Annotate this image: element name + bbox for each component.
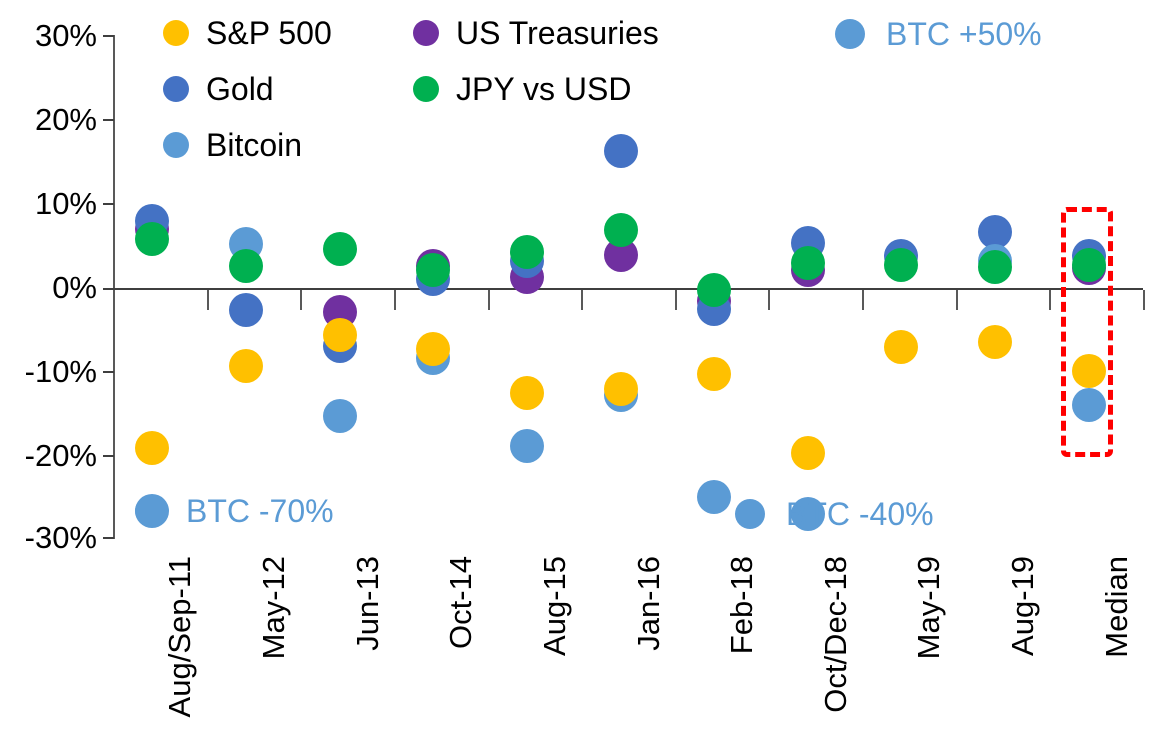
annotation-dot-icon — [135, 496, 165, 526]
data-point — [978, 325, 1012, 359]
x-axis-tick-label: Aug-19 — [1007, 556, 1038, 656]
x-axis-tick-label: Oct-14 — [445, 556, 476, 649]
data-point — [697, 480, 731, 514]
plot-area — [113, 36, 1143, 538]
data-point — [697, 357, 731, 391]
median-highlight-box — [1061, 207, 1113, 457]
annotation-btc-minus-40: BTC -40% — [735, 498, 934, 530]
annotation-btc-minus-70: BTC -70% — [135, 495, 334, 527]
x-axis-tick-label: Aug-15 — [539, 556, 570, 656]
y-axis-tick-label: -10% — [25, 356, 97, 387]
y-axis-tick-label: 10% — [35, 188, 97, 219]
data-point — [604, 134, 638, 168]
annotation-dot-icon — [735, 499, 765, 529]
data-point — [604, 372, 638, 406]
data-point — [135, 222, 169, 256]
data-point — [791, 246, 825, 280]
data-point — [323, 318, 357, 352]
x-axis-tick-label: Jun-13 — [352, 556, 383, 651]
x-axis-tick — [1143, 290, 1145, 310]
annotation-label: BTC -70% — [186, 495, 334, 527]
data-point — [791, 436, 825, 470]
x-axis-tick-label: Median — [1101, 556, 1132, 658]
data-point — [697, 273, 731, 307]
x-axis-tick-label: Oct/Dec-18 — [820, 556, 851, 713]
data-point — [229, 293, 263, 327]
y-axis-tick-label: -30% — [25, 522, 97, 553]
y-axis-tick-label: 30% — [35, 20, 97, 51]
x-axis-tick-label: Feb-18 — [726, 556, 757, 654]
data-point — [229, 349, 263, 383]
data-point — [510, 235, 544, 269]
data-point — [510, 429, 544, 463]
data-point — [323, 399, 357, 433]
x-axis-tick-label: Jan-16 — [633, 556, 664, 651]
annotation-label: BTC +50% — [886, 18, 1042, 50]
x-axis-tick-label: May-19 — [913, 556, 944, 659]
y-axis-tick-label: 0% — [52, 272, 97, 303]
y-axis-tick-label: -20% — [25, 440, 97, 471]
data-point — [884, 248, 918, 282]
data-point — [323, 232, 357, 266]
data-point — [229, 249, 263, 283]
data-point — [884, 330, 918, 364]
scatter-chart: 30% 20% 10% 0% -10% -20% -30% Aug/Sep-11… — [0, 0, 1151, 739]
data-point — [510, 376, 544, 410]
y-axis-labels: 30% 20% 10% 0% -10% -20% -30% — [0, 0, 97, 739]
y-axis-tick-label: 20% — [35, 104, 97, 135]
annotation-btc-plus-50: BTC +50% — [835, 18, 1042, 50]
data-point — [604, 213, 638, 247]
data-point — [416, 253, 450, 287]
x-axis-tick-label: Aug/Sep-11 — [164, 556, 195, 717]
data-point — [978, 250, 1012, 284]
x-axis-tick-label: May-12 — [258, 556, 289, 659]
annotation-label: BTC -40% — [786, 498, 934, 530]
data-point — [135, 431, 169, 465]
annotation-dot-icon — [835, 19, 865, 49]
